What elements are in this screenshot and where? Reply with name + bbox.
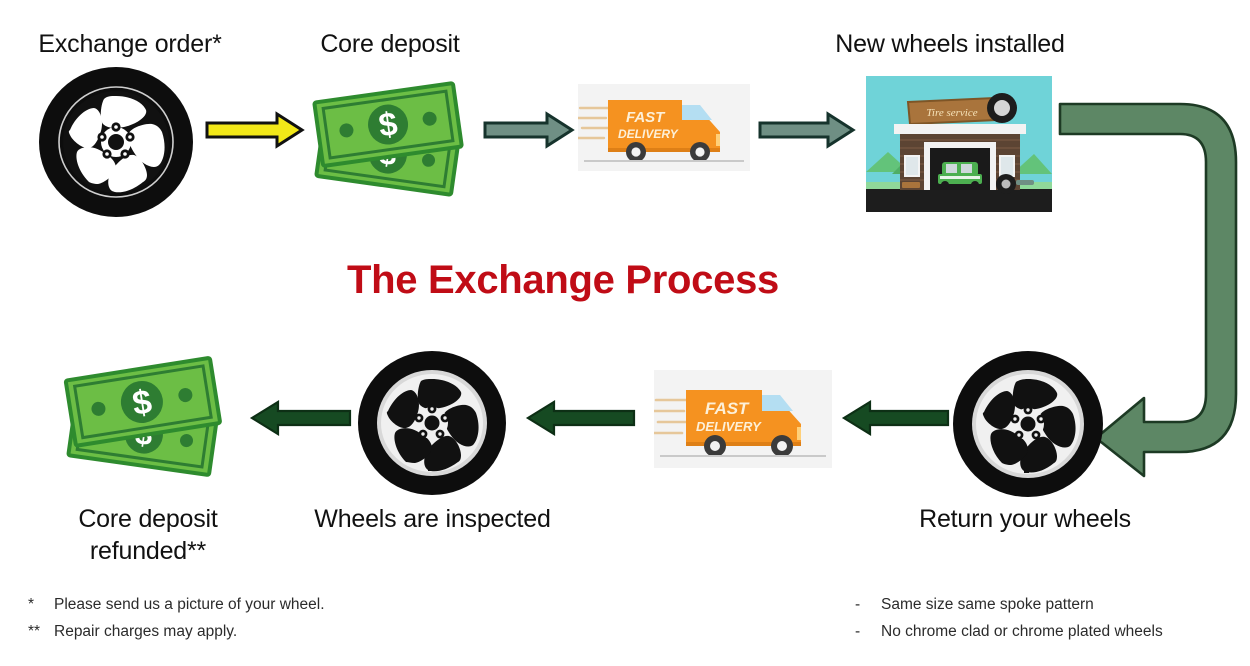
wheel-silver-icon-return	[952, 350, 1104, 498]
arrow-shipping-to-inspected	[524, 400, 636, 436]
money-icon-top: $ $	[306, 76, 478, 204]
label-core-deposit: Core deposit	[290, 28, 490, 60]
footnote-text: Same size same spoke pattern	[881, 592, 1094, 619]
tire-service-shop-image: Tire service	[866, 76, 1052, 212]
footnote-text: Repair charges may apply.	[54, 619, 237, 646]
arrow-shipping-to-install	[758, 112, 856, 148]
wheel-black-icon	[38, 66, 194, 218]
footnote-text: No chrome clad or chrome plated wheels	[881, 619, 1163, 646]
label-wheels-inspected: Wheels are inspected	[300, 503, 565, 535]
arrow-return-to-shipping	[840, 400, 950, 436]
arrow-deposit-to-shipping	[483, 112, 575, 148]
exchange-process-diagram: Exchange order* Core deposit New wheels …	[0, 0, 1250, 666]
footnote-mark: *	[28, 592, 54, 619]
label-return-your-wheels: Return your wheels	[905, 503, 1145, 535]
arrow-order-to-deposit	[205, 112, 305, 148]
footnote-left-row-2: ** Repair charges may apply.	[28, 619, 448, 646]
wheel-silver-icon-inspected	[357, 350, 507, 496]
footnote-text: Please send us a picture of your wheel.	[54, 592, 325, 619]
label-new-wheels-installed: New wheels installed	[805, 28, 1095, 60]
truck-text-fast: FAST	[626, 109, 666, 126]
footnote-mark: -	[855, 619, 881, 646]
arrow-inspected-to-refunded	[248, 400, 352, 436]
footnotes-left: * Please send us a picture of your wheel…	[28, 592, 448, 645]
label-core-deposit-refunded: Core deposit refunded**	[28, 503, 268, 567]
footnote-mark: **	[28, 619, 54, 646]
svg-text:FAST: FAST	[705, 399, 750, 418]
footnote-left-row-1: * Please send us a picture of your wheel…	[28, 592, 448, 619]
footnote-right-row-2: - No chrome clad or chrome plated wheels	[855, 619, 1250, 646]
label-exchange-order: Exchange order*	[10, 28, 250, 60]
footnotes-right: - Same size same spoke pattern - No chro…	[855, 592, 1250, 645]
page-title: The Exchange Process	[347, 258, 779, 303]
truck-text-delivery: DELIVERY	[618, 127, 679, 141]
fast-delivery-truck-image-top: FAST DELIVERY	[578, 84, 750, 171]
footnote-right-row-1: - Same size same spoke pattern	[855, 592, 1250, 619]
svg-text:DELIVERY: DELIVERY	[696, 419, 762, 434]
fast-delivery-truck-image-bottom: FAST DELIVERY	[654, 370, 832, 468]
shop-sign-text: Tire service	[926, 107, 977, 119]
money-icon-bottom: $ $	[58, 352, 238, 486]
footnote-mark: -	[855, 592, 881, 619]
